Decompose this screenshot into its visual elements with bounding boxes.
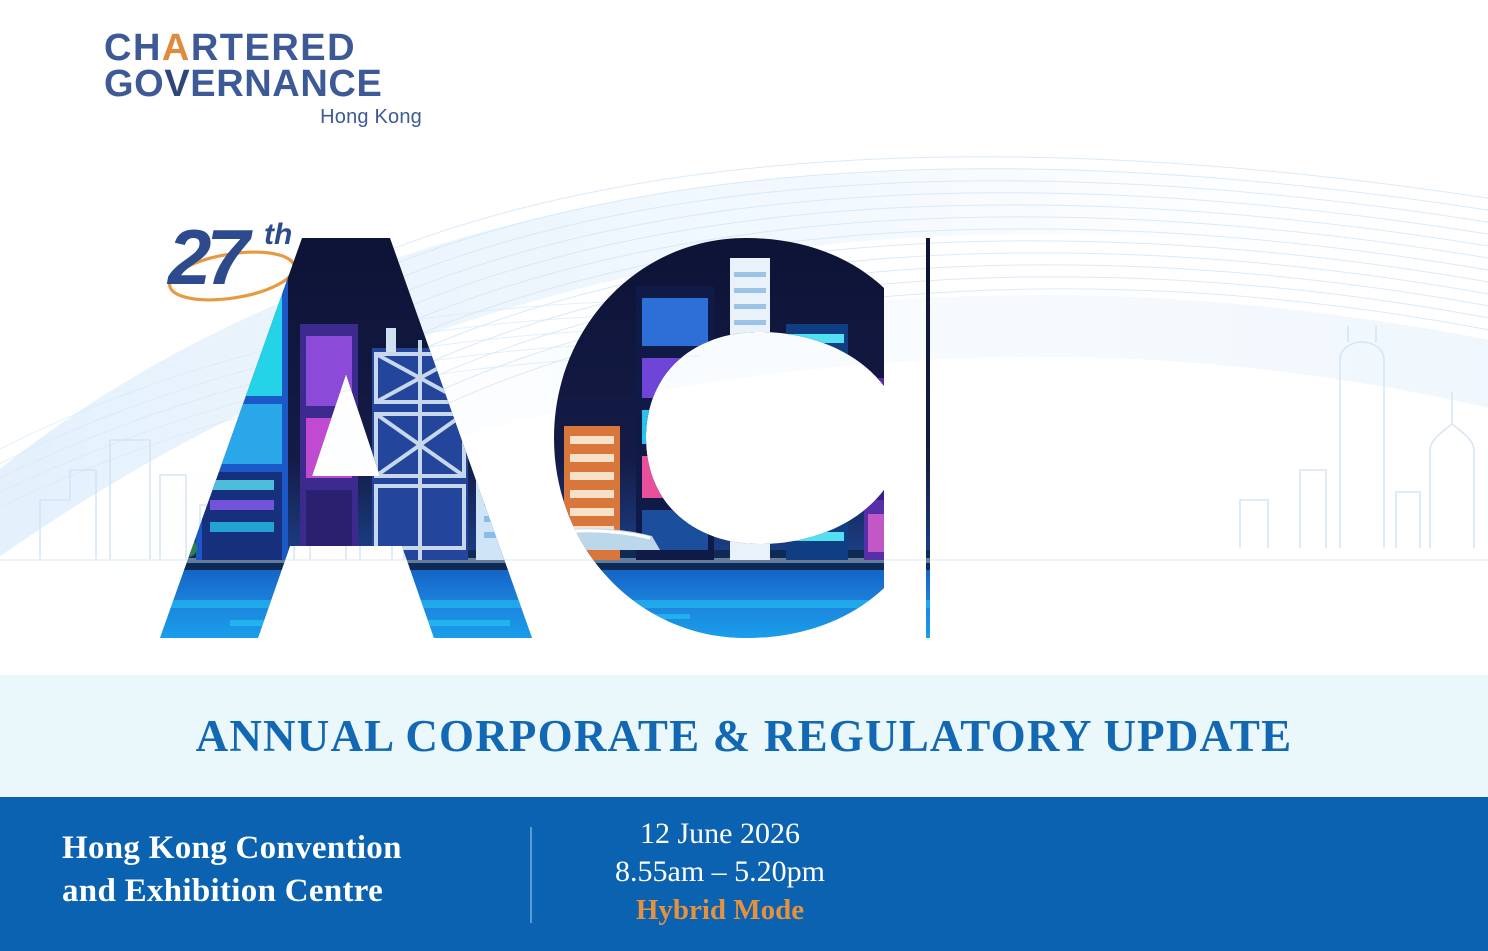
venue-line-1: Hong Kong Convention <box>62 827 502 870</box>
event-date: 12 June 2026 <box>560 815 880 853</box>
hero-area: CHARTERED GOVERNANCE Hong Kong 27 th <box>0 0 1488 675</box>
event-mode: Hybrid Mode <box>560 892 880 929</box>
acru-wordmark <box>140 228 1350 648</box>
logo-subtitle-hong-kong: Hong Kong <box>104 106 424 129</box>
vertical-divider <box>530 827 532 923</box>
chartered-governance-logo: CHARTERED GOVERNANCE Hong Kong <box>104 30 424 129</box>
datetime-block: 12 June 2026 8.55am – 5.20pm Hybrid Mode <box>560 815 880 929</box>
logo-line-governance: GOVERNANCE <box>104 66 424 102</box>
bottom-info-bar: Hong Kong Convention and Exhibition Cent… <box>0 797 1488 951</box>
event-poster: CHARTERED GOVERNANCE Hong Kong 27 th <box>0 0 1488 951</box>
event-time: 8.55am – 5.20pm <box>560 853 880 891</box>
logo-text-pre-2: GO <box>104 63 164 105</box>
venue-block: Hong Kong Convention and Exhibition Cent… <box>62 827 502 913</box>
subtitle-band: ANNUAL CORPORATE & REGULATORY UPDATE <box>0 675 1488 797</box>
venue-line-2: and Exhibition Centre <box>62 870 502 913</box>
logo-line-chartered: CHARTERED <box>104 30 424 66</box>
logo-chevron-v-icon: V <box>164 63 190 105</box>
event-subtitle: ANNUAL CORPORATE & REGULATORY UPDATE <box>196 710 1293 762</box>
logo-text-post-2: ERNANCE <box>190 63 382 105</box>
